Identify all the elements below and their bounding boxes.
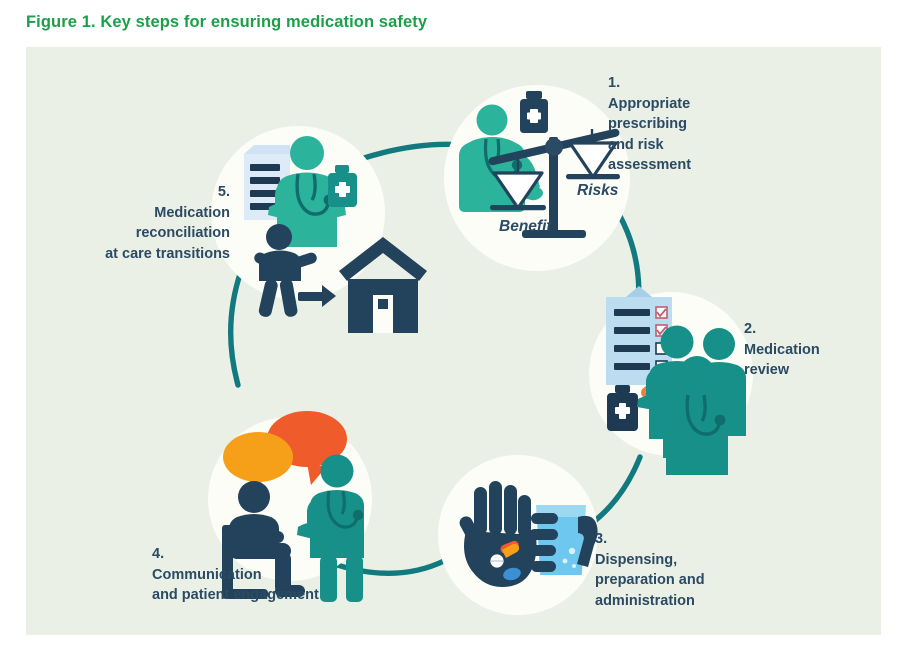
circle-step-3 — [438, 455, 598, 615]
scale-benefit-label: Benefit — [499, 218, 552, 235]
circle-step-5 — [211, 126, 427, 333]
step-label-appropriate-prescribing-and-risk-assessment: 1. Appropriate prescribing and risk asse… — [608, 73, 691, 176]
figure-title: Figure 1. Key steps for ensuring medicat… — [26, 13, 427, 32]
step-label-dispensing-preparation-administration: 3. Dispensing, preparation and administr… — [595, 529, 705, 611]
figure-panel: Benefit Risks — [26, 47, 881, 635]
scale-risks-label: Risks — [577, 182, 619, 199]
step-label-medication-review: 2. Medication review — [744, 319, 820, 381]
circle-step-1: Benefit Risks — [444, 85, 630, 271]
arc-4-to-5 — [231, 271, 241, 385]
step-label-communication-and-patient-engagement: 4. Communication and patient engagement — [152, 544, 319, 606]
circle-step-2 — [589, 286, 753, 475]
step-label-medication-reconciliation-at-care-transitions: 5. Medication reconciliation at care tra… — [82, 182, 230, 264]
